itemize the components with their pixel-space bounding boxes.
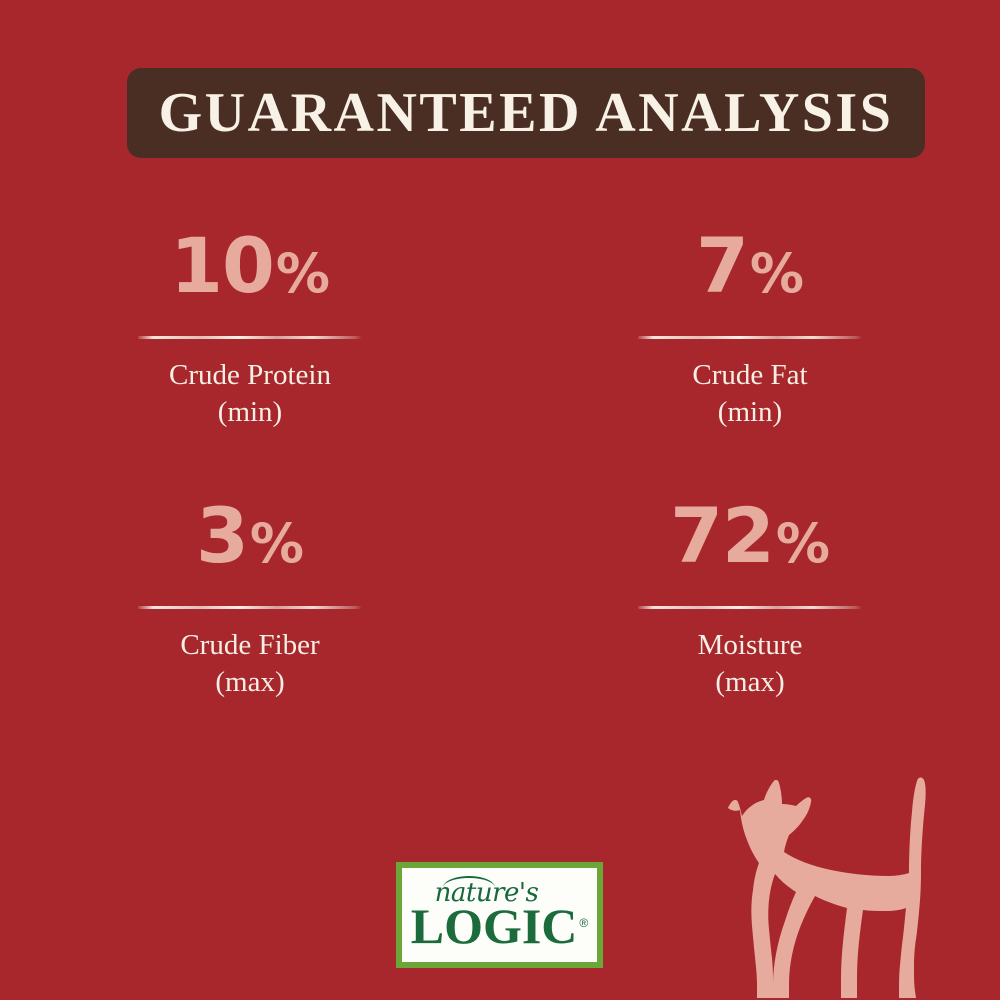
- percent-sign: %: [250, 517, 304, 571]
- logo-panel: nature's LOGIC ®: [402, 868, 597, 962]
- stat-number: 10: [170, 228, 274, 304]
- stat-crude-fiber: 3% Crude Fiber (max): [0, 498, 500, 768]
- stat-divider: [638, 336, 862, 339]
- guaranteed-analysis-banner: GUARANTEED ANALYSIS: [127, 68, 925, 158]
- stat-value-crude-fat: 7%: [696, 228, 804, 314]
- stat-label-crude-protein: Crude Protein (min): [169, 357, 331, 431]
- stat-qualifier: (max): [180, 664, 319, 701]
- logo-wordmark-row: LOGIC ®: [411, 901, 589, 951]
- stat-label-crude-fiber: Crude Fiber (max): [180, 627, 319, 701]
- natures-logic-logo: nature's LOGIC ®: [396, 862, 603, 968]
- stat-qualifier: (min): [692, 394, 807, 431]
- page-title: GUARANTEED ANALYSIS: [159, 85, 894, 141]
- stat-number: 3: [196, 498, 248, 574]
- stat-label-crude-fat: Crude Fat (min): [692, 357, 807, 431]
- guaranteed-analysis-panel: GUARANTEED ANALYSIS 10% Crude Protein (m…: [0, 0, 1000, 1000]
- logo-script-word: nature's: [435, 880, 539, 906]
- stat-value-moisture: 72%: [670, 498, 830, 584]
- stat-label-text: Crude Fiber: [180, 629, 319, 661]
- logo-wordmark: LOGIC: [411, 901, 578, 951]
- registered-trademark-icon: ®: [579, 917, 588, 929]
- stat-qualifier: (max): [698, 664, 803, 701]
- stat-number: 72: [670, 498, 774, 574]
- stat-value-crude-protein: 10%: [170, 228, 330, 314]
- stat-crude-protein: 10% Crude Protein (min): [0, 228, 500, 498]
- stat-value-crude-fiber: 3%: [196, 498, 304, 584]
- percent-sign: %: [750, 247, 804, 301]
- stat-moisture: 72% Moisture (max): [500, 498, 1000, 768]
- stat-label-moisture: Moisture (max): [698, 627, 803, 701]
- stat-divider: [138, 336, 362, 339]
- cat-silhouette-icon: [700, 760, 1000, 1000]
- stat-divider: [138, 606, 362, 609]
- stat-number: 7: [696, 228, 748, 304]
- stat-qualifier: (min): [169, 394, 331, 431]
- percent-sign: %: [276, 247, 330, 301]
- stat-crude-fat: 7% Crude Fat (min): [500, 228, 1000, 498]
- stat-label-text: Crude Fat: [692, 359, 807, 391]
- stat-label-text: Crude Protein: [169, 359, 331, 391]
- stat-divider: [638, 606, 862, 609]
- nutrition-stats-grid: 10% Crude Protein (min) 7% Crude Fat (mi…: [0, 228, 1000, 768]
- percent-sign: %: [776, 517, 830, 571]
- stat-label-text: Moisture: [698, 629, 803, 661]
